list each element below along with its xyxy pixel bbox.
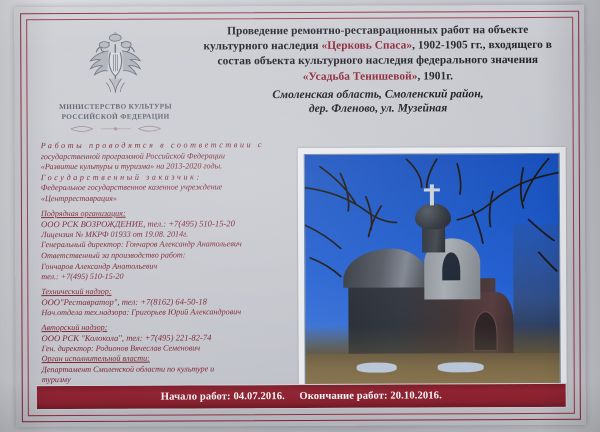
header-title-line-4: «Усадьба Тенишевой», 1901г.: [188, 68, 567, 85]
information-sign-board: Министерство культуры Российской Федерац…: [14, 5, 586, 427]
ministry-emblem-block: Министерство культуры Российской Федерац…: [44, 26, 186, 134]
church-photograph: [304, 153, 561, 390]
ministry-name: Министерство культуры Российской Федерац…: [45, 102, 187, 122]
board-header: Министерство культуры Российской Федерац…: [28, 19, 572, 139]
works-dates-bar: Начало работ: 04.07.2016. Окончание рабо…: [36, 383, 567, 410]
church-photograph-frame: [298, 147, 567, 396]
decorative-flourish-icon: [61, 124, 171, 134]
end-date-label: Окончание работ:: [299, 391, 387, 402]
russian-double-headed-eagle-with-lyre-emblem: [82, 27, 148, 101]
site-address: Смоленская область, Смоленский район, де…: [188, 87, 567, 118]
ministry-name-line-1: Министерство культуры: [45, 102, 187, 112]
header-title-line-1: Проведение ремонтно-реставрационных рабо…: [188, 23, 567, 40]
snow-patch-right: [438, 362, 484, 372]
works-basis-line-1: Работы проводятся в соответствии с: [41, 140, 297, 152]
header-title-line-2a: культурного наследия: [203, 40, 321, 53]
photographed-sign-scene: Министерство культуры Российской Федерац…: [0, 0, 600, 432]
monument-name: «Церковь Спаса»: [321, 40, 412, 52]
works-dates-text: Начало работ: 04.07.2016. Окончание рабо…: [161, 390, 442, 402]
site-address-line-1: Смоленская область, Смоленский район,: [188, 87, 567, 103]
end-date-value: 20.10.2016.: [390, 390, 441, 401]
estate-year: , 1901г.: [417, 70, 453, 82]
start-date-label: Начало работ:: [161, 391, 231, 402]
site-address-line-2: дер. Фленово, ул. Музейная: [189, 101, 568, 117]
header-title-line-2: культурного наследия «Церковь Спаса», 19…: [188, 38, 567, 55]
header-title-block: Проведение ремонтно-реставрационных рабо…: [188, 23, 567, 117]
estate-name: «Усадьба Тенишевой»: [303, 70, 418, 83]
snow-patch-left: [356, 363, 397, 373]
header-title-line-2c: , 1902-1905 гг., входящего в: [412, 39, 552, 52]
start-date-value: 04.07.2016.: [233, 391, 284, 402]
project-details-list: Работы проводятся в соответствии с госуд…: [41, 140, 298, 386]
ministry-name-line-2: Российской Федерации: [45, 112, 187, 122]
header-title-line-3: состав объекта культурного наследия феде…: [188, 53, 567, 70]
treeline-shadow: [305, 325, 559, 357]
